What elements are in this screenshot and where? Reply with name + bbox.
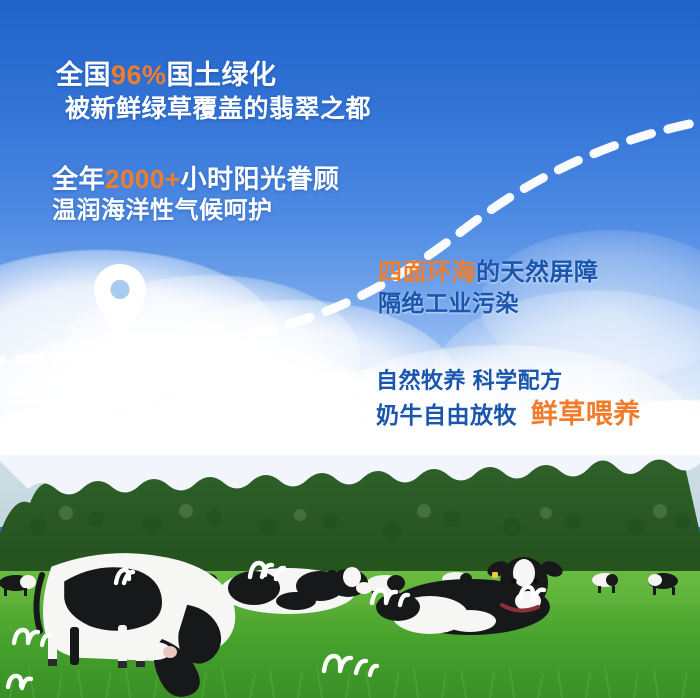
headline-greening-highlight: 96%	[111, 60, 167, 90]
text-block-feeding: 自然牧养 科学配方 奶牛自由放牧 鲜草喂养	[376, 367, 641, 432]
headline-sea-barrier-post: 的天然屏障	[476, 259, 599, 286]
location-pin-icon	[92, 262, 148, 344]
headline-sunshine-highlight: 2000+	[105, 164, 181, 194]
headline-sea-barrier-highlight: 四面环海	[378, 259, 476, 286]
headline-sunshine: 全年2000+小时阳光眷顾	[52, 163, 340, 196]
headline-sunshine-pre: 全年	[52, 164, 105, 194]
pasture-photo	[0, 455, 700, 698]
subline-emerald-capital: 被新鲜绿草覆盖的翡翠之都	[65, 93, 371, 125]
headline-greening-pre: 全国	[56, 60, 111, 90]
headline-natural-feeding: 自然牧养 科学配方	[376, 367, 641, 395]
poster-root: 全国96%国土绿化 被新鲜绿草覆盖的翡翠之都 全年2000+小时阳光眷顾 温润海…	[0, 0, 700, 698]
headline-fresh-grass-highlight: 鲜草喂养	[531, 399, 641, 429]
text-block-sea-barrier: 四面环海的天然屏障 隔绝工业污染	[378, 258, 599, 318]
headline-free-grazing: 奶牛自由放牧	[376, 402, 517, 428]
text-block-greening: 全国96%国土绿化 被新鲜绿草覆盖的翡翠之都	[56, 58, 371, 125]
headline-sea-barrier: 四面环海的天然屏障	[378, 258, 599, 289]
subline-no-pollution: 隔绝工业污染	[378, 289, 599, 318]
text-block-sunshine: 全年2000+小时阳光眷顾 温润海洋性气候呵护	[52, 163, 340, 227]
headline-greening: 全国96%国土绿化	[56, 58, 371, 93]
headline-greening-post: 国土绿化	[167, 60, 277, 90]
headline-fresh-grass: 奶牛自由放牧 鲜草喂养	[376, 397, 641, 432]
subline-oceanic-climate: 温润海洋性气候呵护	[52, 196, 340, 227]
headline-sunshine-post: 小时阳光眷顾	[181, 164, 340, 194]
